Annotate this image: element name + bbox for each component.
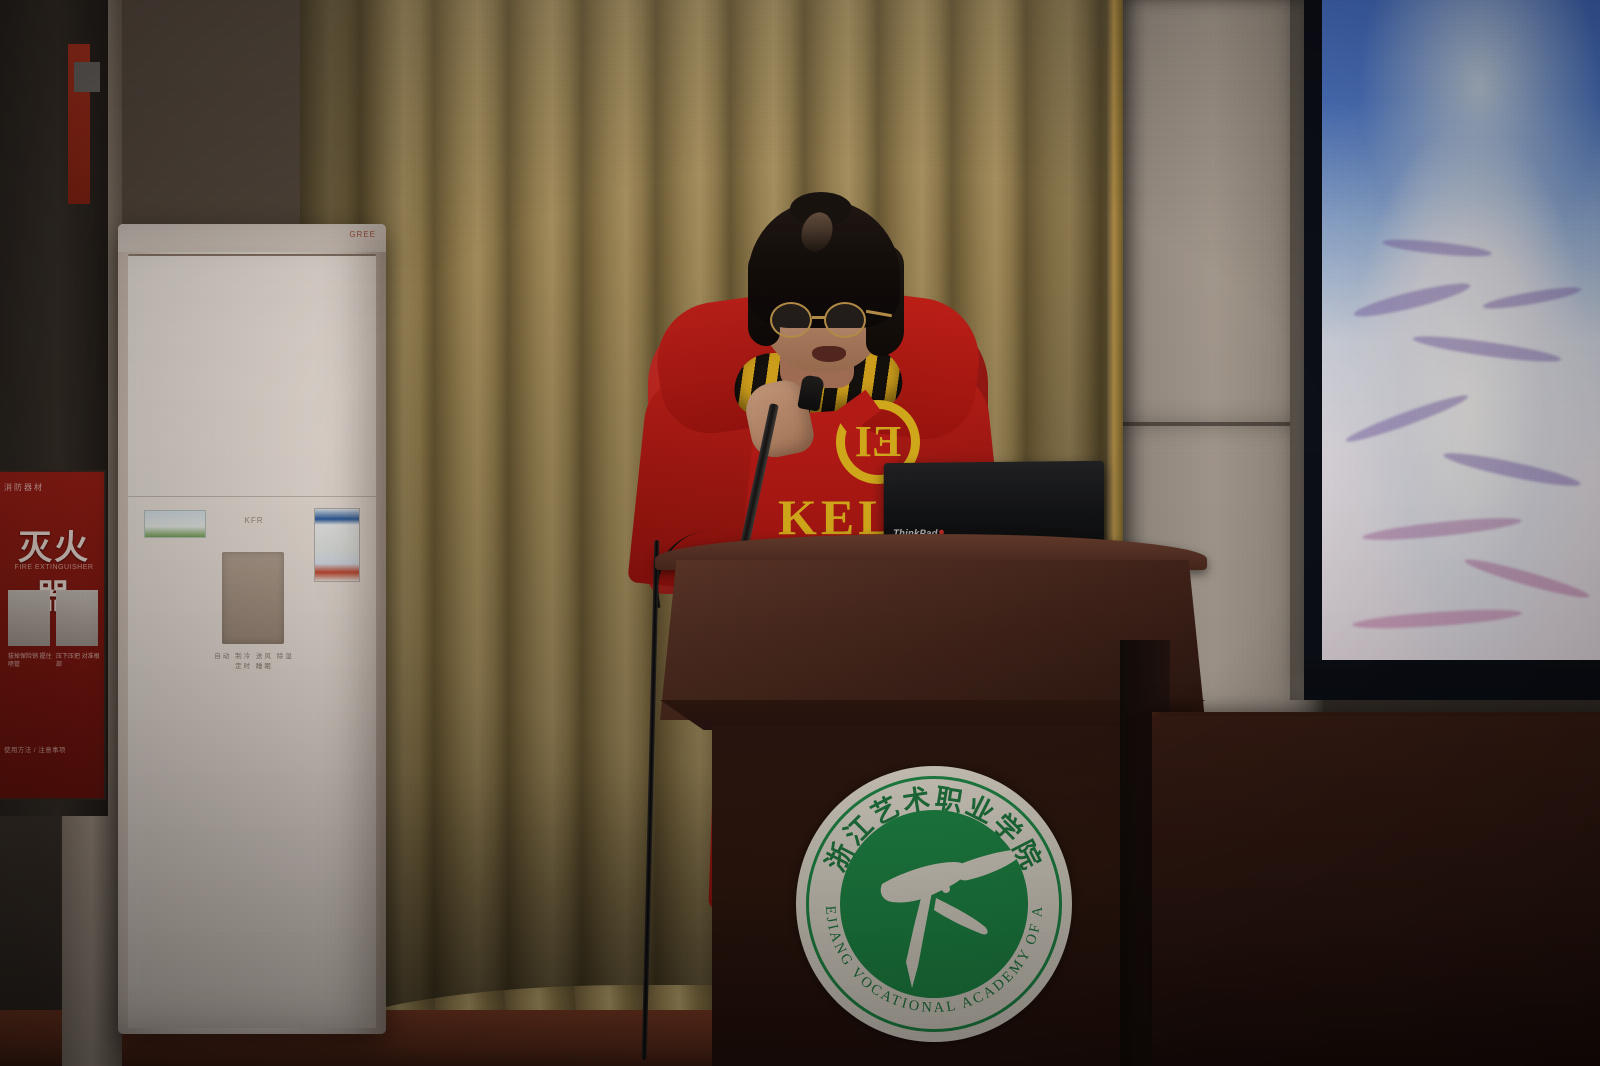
glasses-bridge <box>812 316 826 319</box>
fire-sign-pictogram-1 <box>8 590 50 646</box>
academy-emblem: 浙江艺术职业学院 ZHEJIANG VOCATIONAL ACADEMY OF … <box>796 766 1072 1042</box>
ac-top-cover: GREE <box>118 224 386 252</box>
projection-screen-glow <box>1322 0 1600 668</box>
lens-right <box>824 302 866 338</box>
ac-china-energy-label <box>314 508 360 582</box>
fire-sign-caption-right: 压下压把 对准根部 <box>56 654 100 670</box>
projection-screen-bottom-bezel <box>1304 660 1600 700</box>
ac-display-panel[interactable] <box>222 552 284 644</box>
ac-model-mark: KFR <box>214 516 294 525</box>
fire-sign-pictogram-2 <box>56 590 98 646</box>
left-grey-box <box>74 62 100 92</box>
emblem-chinese-text: 浙江艺术职业学院 <box>820 783 1048 876</box>
fire-sign-caption-left: 拔掉保险销 握住喷管 <box>8 654 52 670</box>
air-conditioner: GREE KFR 自动 制冷 送风 除湿 定时 睡眠 <box>118 224 386 1034</box>
emblem-artwork: 浙江艺术职业学院 ZHEJIANG VOCATIONAL ACADEMY OF … <box>796 766 1072 1042</box>
svg-text:浙江艺术职业学院: 浙江艺术职业学院 <box>820 783 1048 876</box>
eyeglasses <box>770 302 890 340</box>
fire-extinguisher-sign: 消防器材 灭火器 FIRE EXTINGUISHER 拔掉保险销 握住喷管 压下… <box>0 470 106 800</box>
lens-left <box>770 302 812 338</box>
ac-seam <box>128 496 376 497</box>
stage-right-panel <box>1152 716 1600 1066</box>
mouth <box>812 346 846 362</box>
photo-scene: 消防器材 灭火器 FIRE EXTINGUISHER 拔掉保险销 握住喷管 压下… <box>0 0 1600 1066</box>
ac-control-labels: 自动 制冷 送风 除湿 定时 睡眠 <box>214 652 294 673</box>
ac-energy-saving-label <box>144 510 206 538</box>
ac-brand-logo: GREE <box>349 230 376 239</box>
fire-sign-footer: 使用方法 / 注意事项 <box>4 744 104 754</box>
fire-sign-subtitle: FIRE EXTINGUISHER <box>2 564 106 571</box>
fire-sign-heading: 消防器材 <box>4 482 44 493</box>
glasses-temple <box>866 310 892 317</box>
